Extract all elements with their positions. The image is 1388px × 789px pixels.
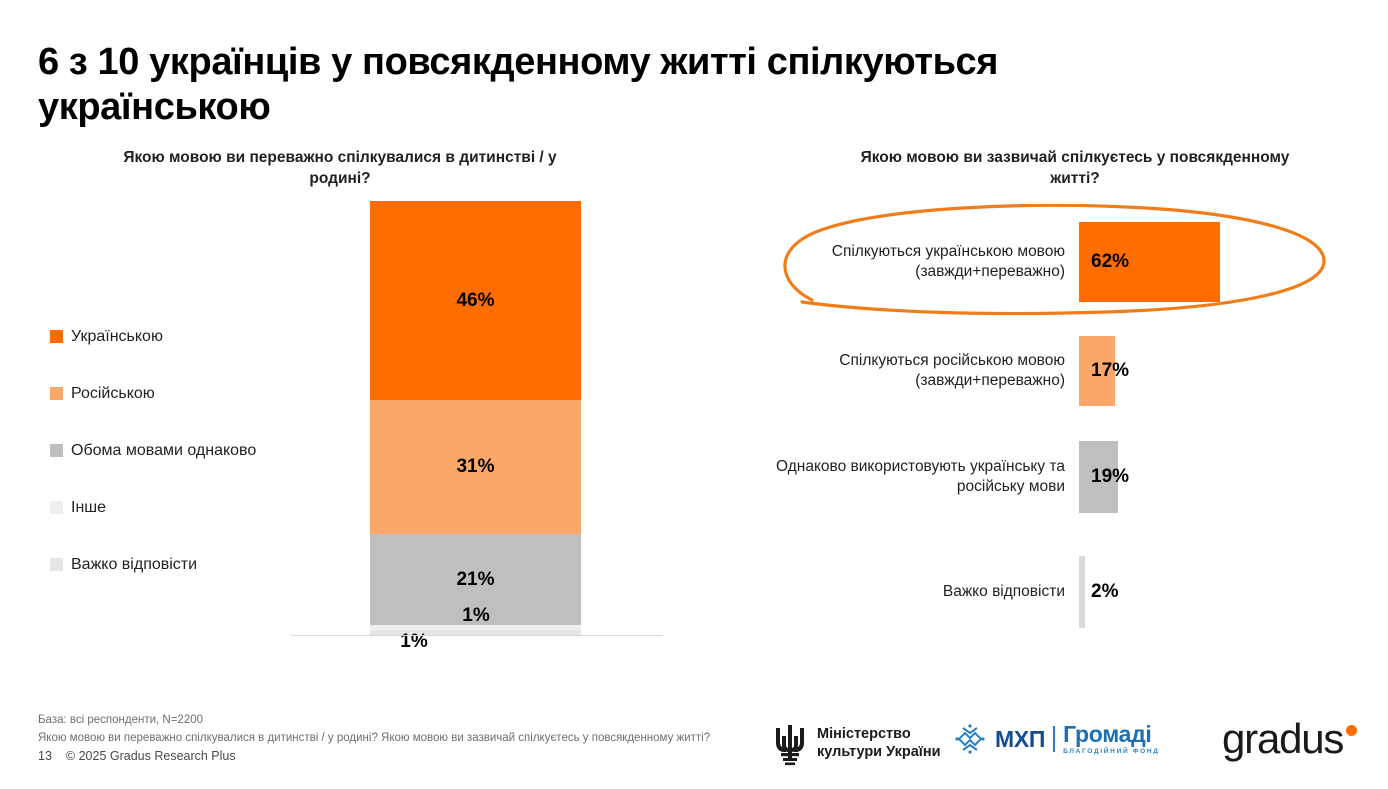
footer-note: База: всі респонденти, N=2200 Якою мовою… xyxy=(38,712,710,748)
bar-holder: 2% xyxy=(1079,556,1085,628)
logo-ministry-line2: культури України xyxy=(817,744,941,762)
legend-label: Обома мовами однаково xyxy=(71,442,256,460)
page-number: 13 xyxy=(38,749,52,763)
bar-holder: 17% xyxy=(1079,336,1115,406)
legend-item-other[interactable]: Інше xyxy=(50,479,340,536)
bar-category-line: російську мови xyxy=(694,477,1065,497)
legend-swatch-icon xyxy=(50,387,63,400)
chart-panel-childhood-language: Якою мовою ви переважно спілкувалися в д… xyxy=(0,0,694,789)
bar-category-line: (завжди+переважно) xyxy=(694,371,1065,391)
legend-item-hard-to-answer[interactable]: Важко відповісти xyxy=(50,536,340,593)
bar-category-line: Спілкуються російською мовою xyxy=(694,351,1065,371)
bar-group-everyday: Спілкуються українською мовою (завжди+пе… xyxy=(694,0,1388,789)
legend-swatch-icon xyxy=(50,444,63,457)
legend-label: Інше xyxy=(71,499,106,517)
bar-category-label: Однаково використовують українську та ро… xyxy=(694,457,1079,497)
bar-category-line: Однаково використовують українську та xyxy=(694,457,1065,477)
bar-row: Важко відповісти 2% xyxy=(694,556,1388,628)
logo-mhp-right: Громаді БЛАГОДІЙНИЙ ФОНД xyxy=(1063,723,1159,756)
stack-value-label: 1% xyxy=(334,631,494,653)
bar-value-label: 17% xyxy=(1091,360,1129,382)
bar-category-label: Спілкуються українською мовою (завжди+пе… xyxy=(694,242,1079,282)
stack-segment-ukrainian[interactable]: 46% xyxy=(370,201,581,400)
logo-ministry-line1: Міністерство xyxy=(817,726,941,744)
stacked-bar-childhood: 46% 31% 21% 1% 1% xyxy=(370,201,581,635)
legend-label: Українською xyxy=(71,328,163,346)
legend-label: Російською xyxy=(71,385,155,403)
stack-value-label: 31% xyxy=(370,456,581,478)
bar-value-label: 2% xyxy=(1091,581,1118,603)
logo-gradus-text: gradus xyxy=(1222,719,1343,759)
logo-ministry-of-culture: Міністерство культури України xyxy=(772,722,941,766)
logo-mhp-gromadi: МХП Громаді БЛАГОДІЙНИЙ ФОНД xyxy=(953,722,1160,756)
stack-value-label: 46% xyxy=(370,290,581,312)
legend-swatch-icon xyxy=(50,330,63,343)
bar-category-line: (завжди+переважно) xyxy=(694,262,1065,282)
bar-holder: 19% xyxy=(1079,441,1118,513)
chart-baseline xyxy=(291,635,663,636)
ukraine-trident-icon xyxy=(772,722,808,766)
mhp-ornament-icon xyxy=(953,722,987,756)
footer-base-text: База: всі респонденти, N=2200 xyxy=(38,712,710,730)
copyright-text: © 2025 Gradus Research Plus xyxy=(66,749,236,763)
legend-item-ukrainian[interactable]: Українською xyxy=(50,308,340,365)
logo-mhp-main-text: МХП xyxy=(995,728,1045,751)
bar-category-line: Важко відповісти xyxy=(694,582,1065,602)
legend-swatch-icon xyxy=(50,501,63,514)
bar-row: Спілкуються російською мовою (завжди+пер… xyxy=(694,336,1388,406)
stack-value-label: 1% xyxy=(396,605,556,627)
logo-mhp-fund-text: БЛАГОДІЙНИЙ ФОНД xyxy=(1063,749,1159,756)
legend-label: Важко відповісти xyxy=(71,556,197,574)
chart-subtitle-childhood: Якою мовою ви переважно спілкувалися в д… xyxy=(120,148,560,190)
footer-copyright: 13 © 2025 Gradus Research Plus xyxy=(38,749,236,763)
chart-panel-everyday-language: Якою мовою ви зазвичай спілкуєтесь у пов… xyxy=(694,0,1388,789)
bar-value-label: 62% xyxy=(1091,251,1129,273)
logo-gradus: gradus xyxy=(1222,719,1357,759)
bar-category-label: Важко відповісти xyxy=(694,582,1079,602)
stack-segment-russian[interactable]: 31% xyxy=(370,400,581,534)
bar-row: Однаково використовують українську та ро… xyxy=(694,441,1388,513)
bar-row: Спілкуються українською мовою (завжди+пе… xyxy=(694,222,1388,302)
bar-holder: 62% xyxy=(1079,222,1220,302)
bar-category-label: Спілкуються російською мовою (завжди+пер… xyxy=(694,351,1079,391)
legend-swatch-icon xyxy=(50,558,63,571)
bar-rect-hard-to-answer[interactable] xyxy=(1079,556,1085,628)
bar-category-line: Спілкуються українською мовою xyxy=(694,242,1065,262)
logo-gradus-dot-icon xyxy=(1346,725,1357,736)
stack-value-label: 21% xyxy=(370,569,581,591)
bar-value-label: 19% xyxy=(1091,466,1129,488)
logo-mhp-gromadi-text: Громаді xyxy=(1063,723,1159,746)
footer-questions-text: Якою мовою ви переважно спілкувалися в д… xyxy=(38,730,710,748)
legend-item-russian[interactable]: Російською xyxy=(50,365,340,422)
chart-legend: Українською Російською Обома мовами одна… xyxy=(50,308,340,593)
logo-ministry-text: Міністерство культури України xyxy=(817,726,941,761)
logo-divider xyxy=(1053,726,1055,752)
legend-item-both-equally[interactable]: Обома мовами однаково xyxy=(50,422,340,479)
